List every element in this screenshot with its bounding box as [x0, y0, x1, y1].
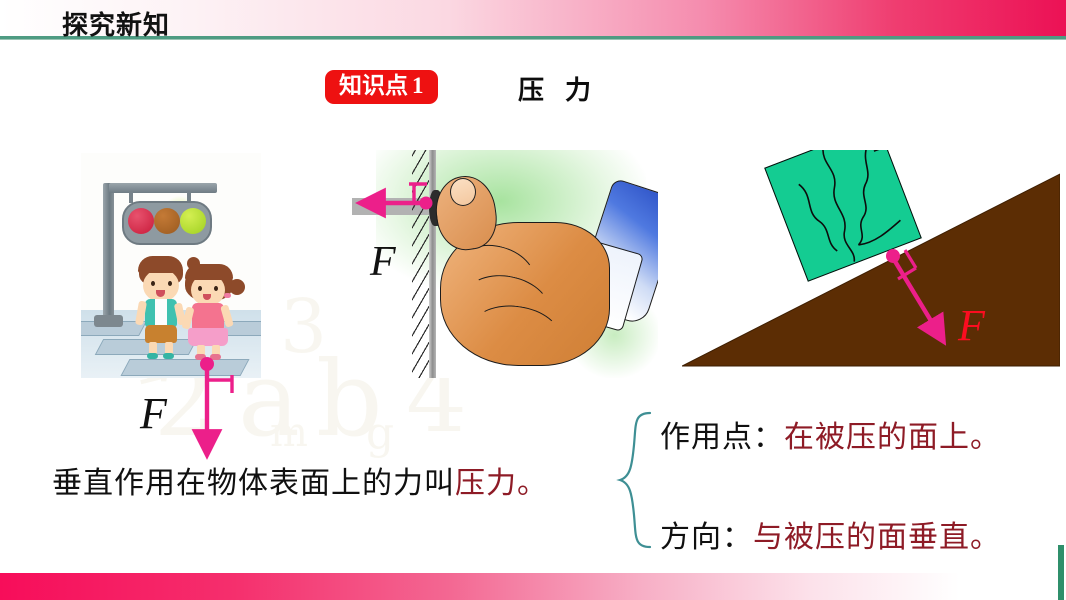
property-label: 方向： [660, 520, 753, 555]
force-label-crosswalk: F [140, 388, 167, 439]
girl-top [192, 303, 224, 330]
definition-text: 垂直作用在物体表面上的力叫 [52, 466, 455, 501]
force-label-thumbtack: F [370, 238, 396, 286]
force-label-incline: F [958, 300, 985, 351]
traffic-light-base [94, 315, 123, 327]
watermark-char: m [270, 410, 308, 456]
boy-shoe [163, 353, 174, 359]
page-title: 探究新知 [62, 5, 170, 42]
girl-skirt [188, 328, 228, 346]
property-label: 作用点： [660, 420, 784, 455]
property-action-point: 作用点：在被压的面上。 [660, 412, 1001, 456]
wall-surface [429, 150, 436, 378]
crosswalk-figure [81, 153, 261, 378]
traffic-light-pole [103, 183, 114, 323]
property-answer: 在被压的面上。 [784, 420, 1001, 455]
boy-face [143, 269, 179, 302]
boy-fringe [138, 256, 183, 273]
boy-eye [168, 281, 172, 286]
girl-hair-clip [224, 293, 231, 298]
boy-shorts [145, 325, 177, 343]
property-answer: 与被压的面垂直。 [753, 520, 1001, 555]
watermark-char: 3 [280, 284, 327, 370]
watermark-char: g [366, 408, 394, 459]
knowledge-point-badge[interactable]: 知识点1 [325, 70, 438, 104]
girl-shoe [210, 354, 221, 360]
traffic-light-red-lamp [128, 208, 154, 234]
girl-eye [214, 286, 218, 291]
definition-highlight: 压力。 [455, 466, 548, 501]
girl-fringe [185, 264, 233, 280]
wall-hatching [412, 150, 430, 378]
knowledge-point-title: 压 力 [518, 70, 597, 107]
girl-shoe [195, 354, 206, 360]
boy-shirt-front [155, 299, 167, 327]
traffic-light-arm [109, 183, 217, 193]
property-direction: 方向：与被压的面垂直。 [660, 512, 1001, 556]
footer-accent-tab [1058, 545, 1064, 600]
traffic-light-hanger [129, 191, 133, 203]
knowledge-point-badge-label: 知识点 [339, 73, 408, 99]
traffic-light-yellow-lamp [154, 208, 180, 234]
footer-banner [0, 573, 1066, 600]
knowledge-point-badge-number: 1 [408, 73, 424, 98]
boy-shoe [147, 353, 158, 359]
girl-eye [198, 286, 202, 291]
traffic-light-green-lamp [180, 208, 206, 234]
definition-sentence: 垂直作用在物体表面上的力叫压力。 [52, 458, 548, 502]
incline-figure [682, 150, 1060, 368]
thumbnail [450, 178, 476, 206]
boy-eye [151, 281, 155, 286]
thumbtack-figure [352, 150, 658, 378]
block-texture [782, 150, 922, 282]
slide-canvas: K d 3 2 a b 4 g m 探究新知 知识点1 压 力 [0, 0, 1066, 600]
properties-brace [620, 413, 650, 547]
traffic-light-box [122, 201, 212, 245]
zebra-stripe [120, 359, 249, 376]
